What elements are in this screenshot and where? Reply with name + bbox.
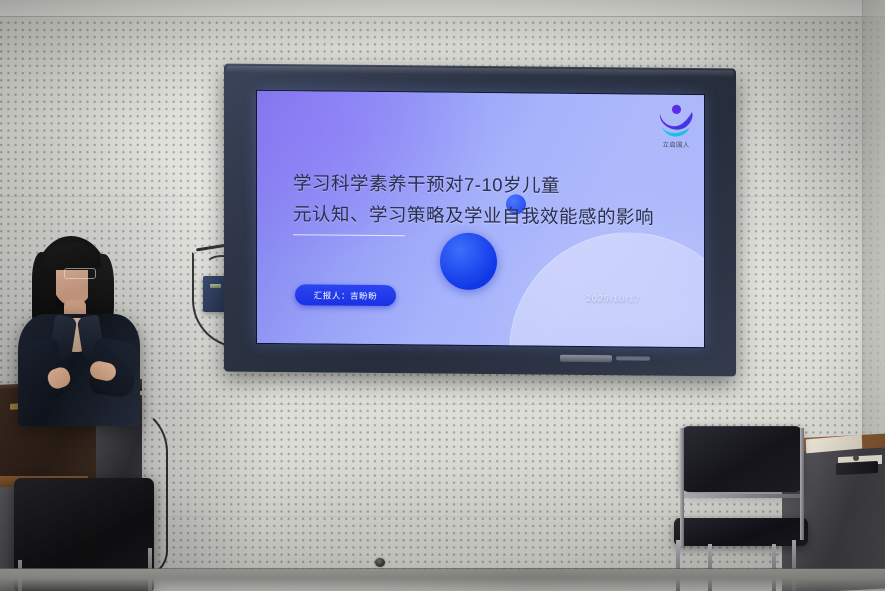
slide-title-line-2: 元认知、学习策略及学业自我效能感的影响	[293, 198, 683, 233]
chair-frame-right	[800, 428, 804, 540]
chair-rail	[682, 494, 802, 498]
slide-title-line-1: 学习科学素养干预对7-10岁儿童	[293, 172, 560, 196]
desk-folder	[836, 461, 878, 475]
chair-backrest	[682, 426, 802, 492]
tv-sensor-strip	[560, 355, 612, 362]
person-figure-logo-icon	[652, 103, 700, 139]
presenter	[12, 236, 144, 422]
interactive-flat-panel-display[interactable]: 立启国人 学习科学素养干预对7-10岁儿童 元认知、学习策略及学业自我效能感的影…	[224, 64, 736, 377]
slide-background: 立启国人 学习科学素养干预对7-10岁儿童 元认知、学习策略及学业自我效能感的影…	[257, 91, 704, 347]
tv-label-strip	[616, 356, 650, 360]
tv-screen[interactable]: 立启国人 学习科学素养干预对7-10岁儿童 元认知、学习策略及学业自我效能感的影…	[257, 91, 704, 347]
right-chair	[660, 420, 830, 591]
logo-caption: 立启国人	[655, 139, 697, 153]
presenter-badge: 汇报人：吉盼盼	[295, 284, 396, 306]
ceiling-beam	[0, 0, 885, 17]
organization-logo: 立启国人	[652, 103, 700, 151]
baseboard-sheen	[0, 568, 885, 591]
chair-seat	[674, 518, 808, 546]
glasses-icon	[64, 268, 96, 279]
wall-hole	[375, 558, 385, 567]
decorative-circle-solid	[440, 233, 497, 291]
slide-date: 2025/10/17	[586, 293, 641, 304]
presentation-room-photo: 立启国人 学习科学素养干预对7-10岁儿童 元认知、学习策略及学业自我效能感的影…	[0, 0, 885, 591]
chair-frame-left	[680, 428, 684, 546]
desk-drawer-knob	[853, 455, 859, 461]
slide-title: 学习科学素养干预对7-10岁儿童 元认知、学习策略及学业自我效能感的影响	[293, 167, 683, 233]
